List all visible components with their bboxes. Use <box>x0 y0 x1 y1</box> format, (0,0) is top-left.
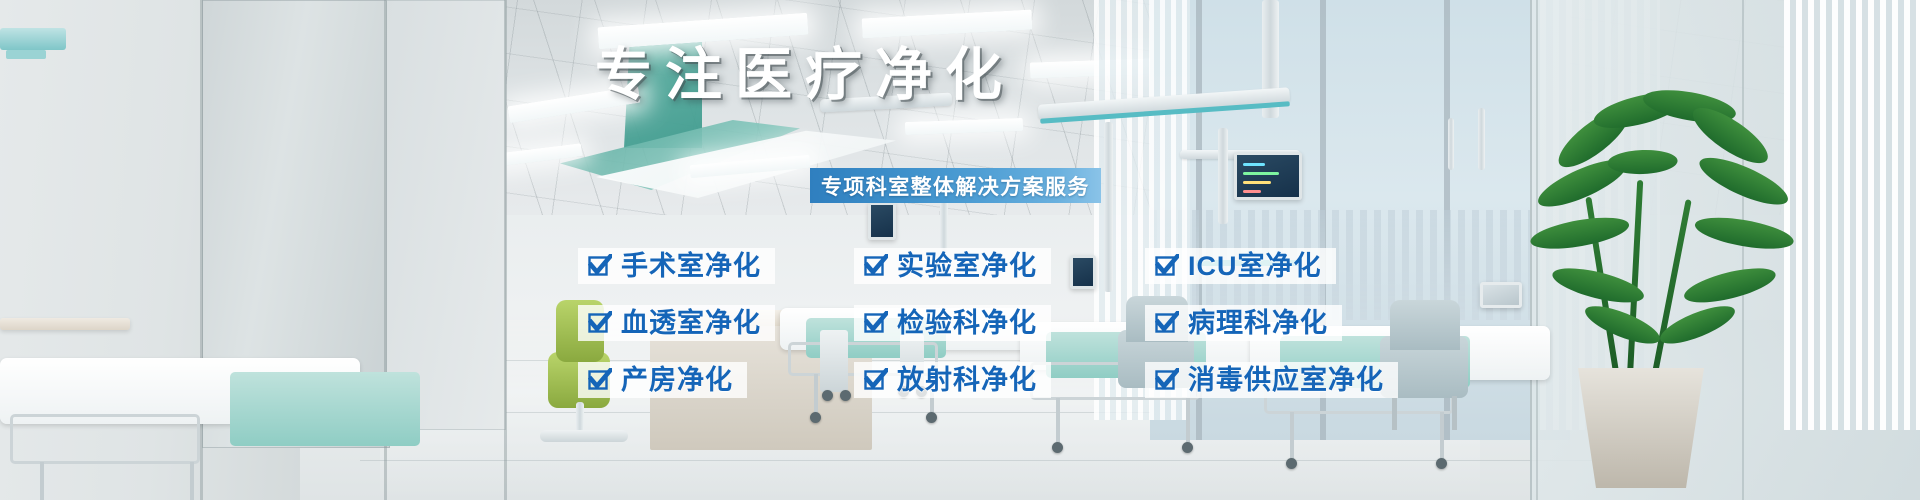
main-title: 专注医疗净化 <box>595 46 1015 106</box>
checkbox-checked-icon <box>588 254 612 278</box>
checklist-column-2: 实验室净化 检验科净化 放射科净化 <box>854 248 1051 419</box>
checkbox-checked-icon <box>588 368 612 392</box>
text-overlay: 专注医疗净化 专项科室整体解决方案服务 手术室净化 血透室净化 <box>0 0 1920 500</box>
checkbox-checked-icon <box>864 311 888 335</box>
checklist-item[interactable]: 放射科净化 <box>854 362 1051 398</box>
checklist-item[interactable]: 病理科净化 <box>1145 305 1342 341</box>
checklist-item[interactable]: ICU室净化 <box>1145 248 1336 284</box>
checklist-column-1: 手术室净化 血透室净化 产房净化 <box>578 248 775 419</box>
checklist-item-label: 血透室净化 <box>621 310 761 337</box>
subtitle-banner: 专项科室整体解决方案服务 <box>810 168 1101 203</box>
checklist-item[interactable]: 手术室净化 <box>578 248 775 284</box>
checklist-item-label: 产房净化 <box>621 367 733 394</box>
checklist-item-label: ICU室净化 <box>1188 253 1322 280</box>
checkbox-checked-icon <box>864 368 888 392</box>
checklist-item[interactable]: 血透室净化 <box>578 305 775 341</box>
checklist-item-label: 实验室净化 <box>897 253 1037 280</box>
checkbox-checked-icon <box>1155 254 1179 278</box>
checkbox-checked-icon <box>1155 311 1179 335</box>
checklist-item-label: 检验科净化 <box>897 310 1037 337</box>
checklist-item-label: 手术室净化 <box>621 253 761 280</box>
checkbox-checked-icon <box>864 254 888 278</box>
promo-banner: 专注医疗净化 专项科室整体解决方案服务 手术室净化 血透室净化 <box>0 0 1920 500</box>
checklist-item[interactable]: 消毒供应室净化 <box>1145 362 1398 398</box>
checklist-item-label: 病理科净化 <box>1188 310 1328 337</box>
checklist-item[interactable]: 产房净化 <box>578 362 747 398</box>
checklist-item-label: 放射科净化 <box>897 367 1037 394</box>
subtitle-text: 专项科室整体解决方案服务 <box>821 171 1090 201</box>
checklist-item[interactable]: 实验室净化 <box>854 248 1051 284</box>
checklist-column-3: ICU室净化 病理科净化 消毒供应室净化 <box>1145 248 1398 419</box>
checkbox-checked-icon <box>1155 368 1179 392</box>
checkbox-checked-icon <box>588 311 612 335</box>
checklist-item[interactable]: 检验科净化 <box>854 305 1051 341</box>
checklist-item-label: 消毒供应室净化 <box>1188 367 1384 394</box>
